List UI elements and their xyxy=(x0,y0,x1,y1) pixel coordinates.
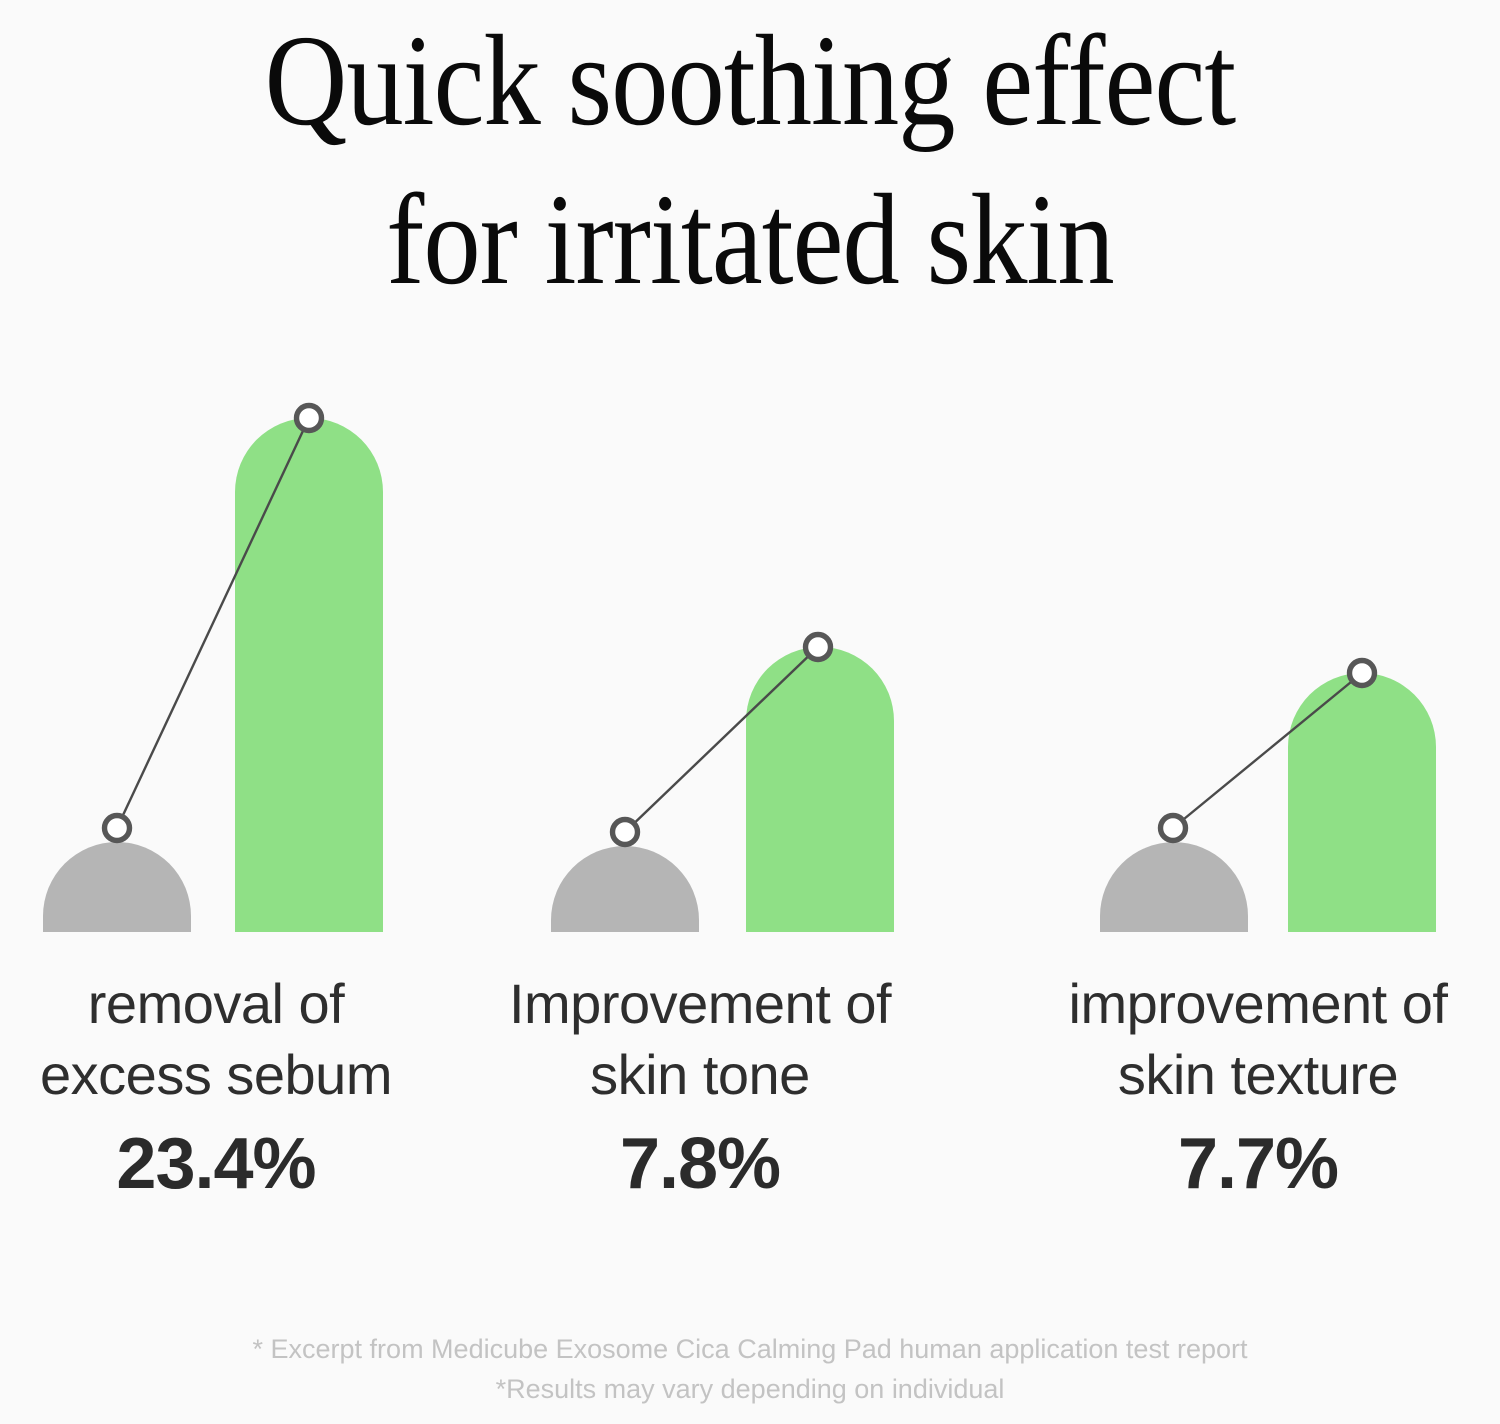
before-marker-1 xyxy=(105,816,130,841)
after-marker-2 xyxy=(806,635,831,660)
category-1-line-1: removal of xyxy=(0,968,476,1039)
footnote-line-1: * Excerpt from Medicube Exosome Cica Cal… xyxy=(0,1330,1500,1370)
chart-group-2 xyxy=(551,635,894,933)
category-3-value: 7.7% xyxy=(978,1128,1500,1200)
category-2: Improvement of skin tone 7.8% xyxy=(440,968,960,1200)
page-title-line-1: Quick soothing effect xyxy=(90,2,1410,161)
category-2-value: 7.8% xyxy=(440,1128,960,1200)
infographic-page: Quick soothing effect for irritated skin xyxy=(0,0,1500,1424)
connector-line-2 xyxy=(625,647,818,832)
category-2-line-2: skin tone xyxy=(440,1039,960,1110)
category-2-line-1: Improvement of xyxy=(440,968,960,1039)
category-1-line-2: excess sebum xyxy=(0,1039,476,1110)
connector-line-3 xyxy=(1173,673,1362,828)
before-marker-2 xyxy=(613,820,638,845)
before-bar-1 xyxy=(43,842,191,932)
after-bar-3 xyxy=(1288,673,1436,932)
page-title: Quick soothing effect for irritated skin xyxy=(90,2,1410,319)
before-bar-3 xyxy=(1100,842,1248,932)
after-bar-1 xyxy=(235,418,383,932)
footnote: * Excerpt from Medicube Exosome Cica Cal… xyxy=(0,1330,1500,1410)
footnote-line-2: *Results may vary depending on individua… xyxy=(0,1370,1500,1410)
chart-group-1 xyxy=(43,406,383,933)
category-1-value: 23.4% xyxy=(0,1128,476,1200)
page-title-line-2: for irritated skin xyxy=(90,161,1410,320)
chart-group-3 xyxy=(1100,661,1436,933)
after-marker-3 xyxy=(1350,661,1375,686)
after-bar-2 xyxy=(746,647,894,932)
after-marker-1 xyxy=(297,406,322,431)
category-1: removal of excess sebum 23.4% xyxy=(0,968,476,1200)
category-3-line-2: skin texture xyxy=(978,1039,1500,1110)
connector-line-1 xyxy=(117,418,309,828)
before-bar-2 xyxy=(551,846,699,932)
category-labels: removal of excess sebum 23.4% Improvemen… xyxy=(0,968,1500,1228)
category-3-line-1: improvement of xyxy=(978,968,1500,1039)
before-marker-3 xyxy=(1161,816,1186,841)
category-3: improvement of skin texture 7.7% xyxy=(978,968,1500,1200)
